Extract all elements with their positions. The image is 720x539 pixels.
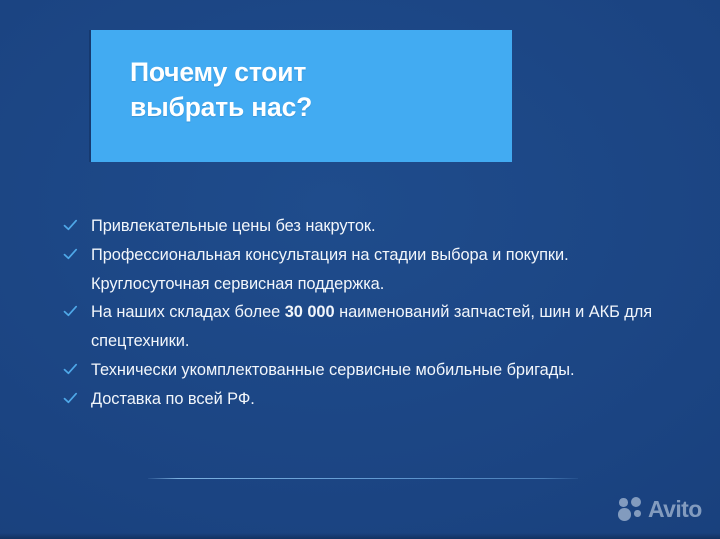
list-item: На наших складах более 30 000 наименован…: [62, 298, 662, 356]
list-item-text: На наших складах более 30 000 наименован…: [91, 298, 662, 356]
list-item-text: Доставка по всей РФ.: [91, 385, 662, 414]
check-icon: [63, 247, 78, 262]
slide-canvas: Почему стоит выбрать нас? Привлекательны…: [0, 0, 720, 539]
avito-wordmark: Avito: [648, 496, 702, 522]
avito-watermark: Avito: [618, 496, 702, 522]
check-icon: [63, 391, 78, 406]
list-item-text: Технически укомплектованные сервисные мо…: [91, 356, 662, 385]
list-item-text: Профессиональная консультация на стадии …: [91, 241, 662, 299]
list-item: Технически укомплектованные сервисные мо…: [62, 356, 662, 385]
list-item: Доставка по всей РФ.: [62, 385, 662, 414]
check-icon: [63, 304, 78, 319]
avito-dots-logo-icon: [618, 496, 644, 522]
divider: [148, 478, 578, 479]
list-item: Привлекательные цены без накруток.: [62, 212, 662, 241]
title-banner: Почему стоит выбрать нас?: [91, 30, 512, 162]
benefits-list: Привлекательные цены без накруток. Профе…: [62, 212, 662, 414]
list-item-text: Привлекательные цены без накруток.: [91, 212, 662, 241]
check-icon: [63, 218, 78, 233]
bottom-edge-shading: [0, 533, 720, 539]
page-title: Почему стоит выбрать нас?: [130, 55, 498, 125]
list-item: Профессиональная консультация на стадии …: [62, 241, 662, 299]
check-icon: [63, 362, 78, 377]
